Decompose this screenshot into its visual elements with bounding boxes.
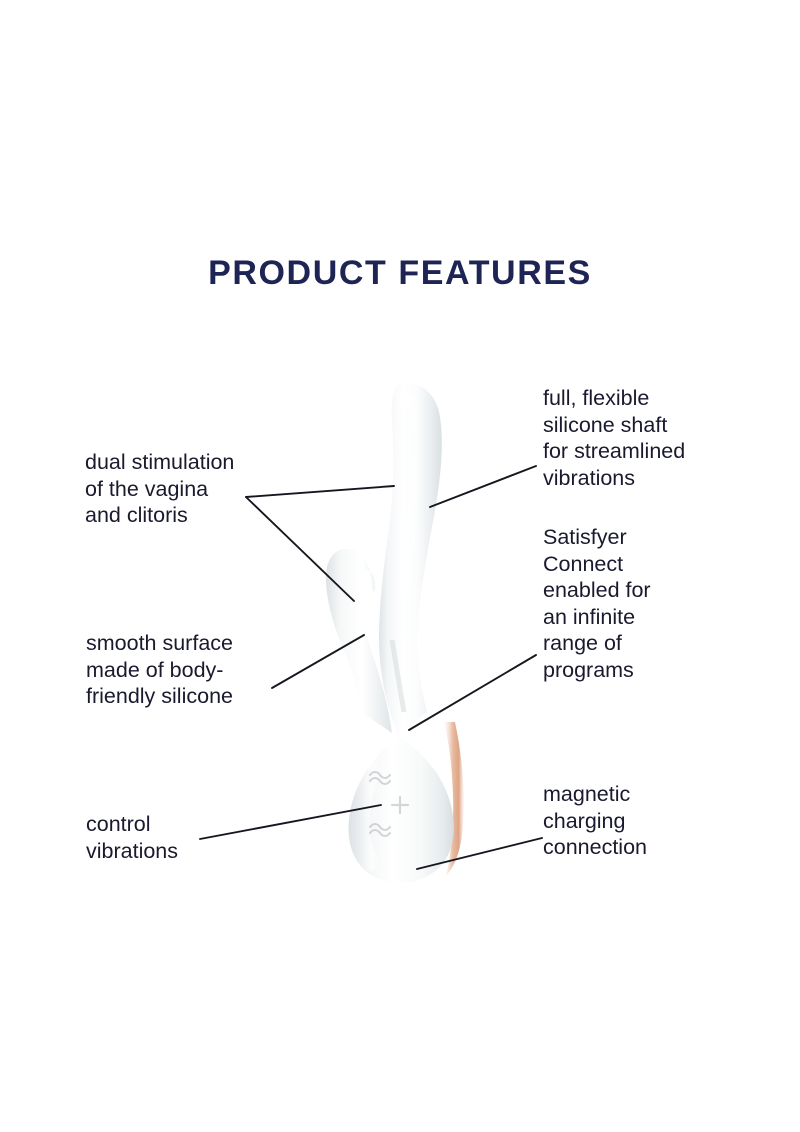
label-magnetic-charging-connection: magnetic charging connection bbox=[543, 781, 728, 861]
label-full-flexible-silicone-shaft: full, flexible silicone shaft for stream… bbox=[543, 385, 728, 491]
product-features-infographic: PRODUCT FEATURES bbox=[0, 0, 800, 1132]
label-control-vibrations: control vibrations bbox=[86, 811, 276, 864]
label-dual-stimulation: dual stimulation of the vagina and clito… bbox=[85, 449, 300, 529]
label-satisfyer-connect: Satisfyer Connect enabled for an infinit… bbox=[543, 524, 718, 683]
label-smooth-surface: smooth surface made of body- friendly si… bbox=[86, 630, 301, 710]
